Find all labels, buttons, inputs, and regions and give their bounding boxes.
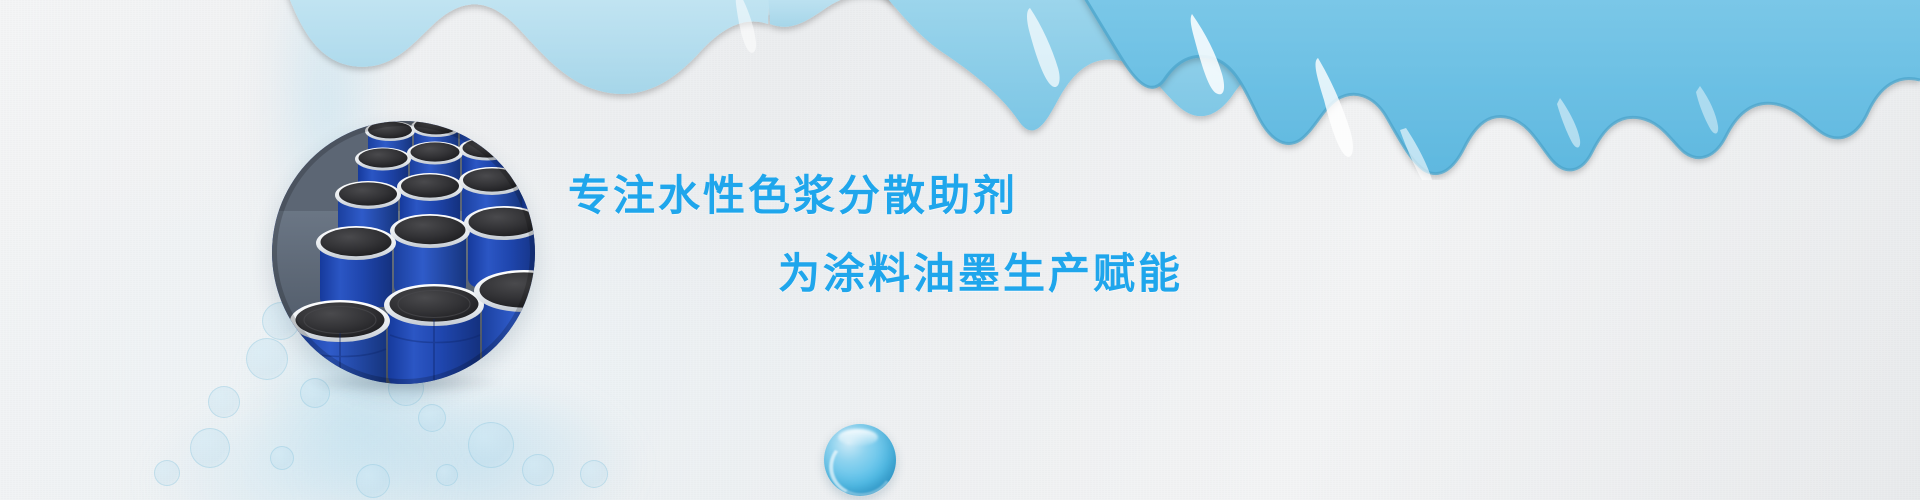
headline-line-2: 为涂料油墨生产赋能 bbox=[778, 253, 1183, 295]
headline-line-1: 专注水性色浆分散助剂 bbox=[568, 175, 1018, 217]
splash-bubble bbox=[468, 422, 514, 468]
splash-bubble bbox=[154, 460, 180, 486]
splash-bubble bbox=[270, 446, 294, 470]
splash-bubble bbox=[356, 464, 390, 498]
headline-block: 专注水性色浆分散助剂 为涂料油墨生产赋能 bbox=[560, 150, 1460, 330]
glossy-blue-bubble bbox=[824, 424, 896, 496]
watercolor-wash-bottom bbox=[300, 392, 640, 500]
photo-inner bbox=[272, 121, 535, 384]
splash-bubble bbox=[418, 404, 446, 432]
hero-banner: 专注水性色浆分散助剂 为涂料油墨生产赋能 bbox=[0, 0, 1920, 500]
blue-chemical-drums-photo bbox=[272, 121, 535, 384]
bubble-top-highlight bbox=[838, 429, 878, 446]
splash-bubble bbox=[436, 464, 458, 486]
splash-bubble bbox=[522, 454, 554, 486]
splash-bubble bbox=[580, 460, 608, 488]
splash-bubble bbox=[190, 428, 230, 468]
watercolor-wash-bottom-left bbox=[150, 410, 450, 500]
splash-bubble bbox=[208, 386, 240, 418]
